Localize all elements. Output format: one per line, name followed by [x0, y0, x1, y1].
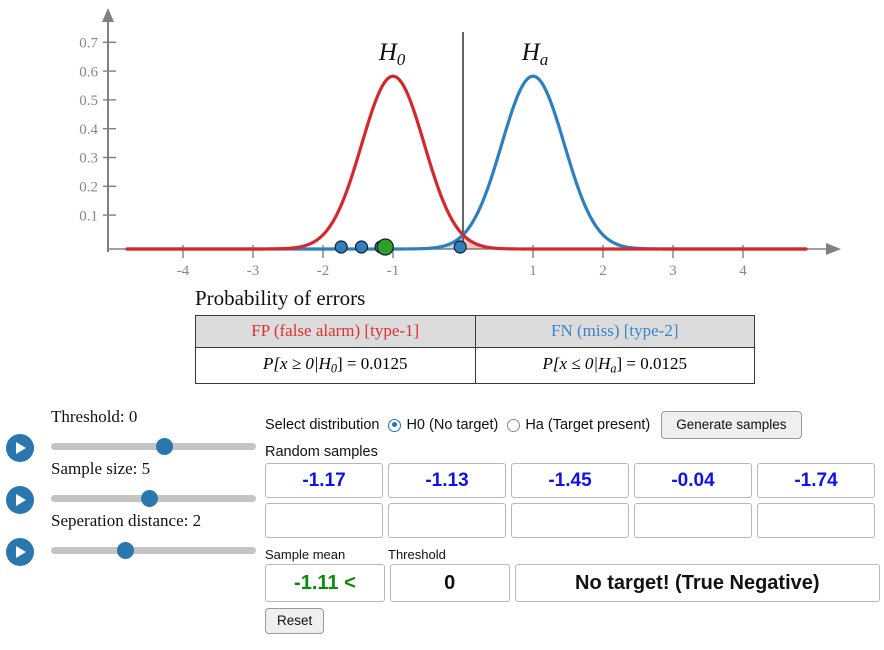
fp-header-text: FP (false alarm) [type-1] — [251, 321, 419, 340]
ha-curve — [127, 76, 806, 249]
radio-dot-ha-icon[interactable] — [507, 419, 520, 432]
fn-value-cell: P[x ≤ 0|Ha] = 0.0125 — [475, 348, 755, 384]
threshold-label: Threshold — [388, 547, 488, 562]
slider-knob-sample-size[interactable] — [141, 490, 158, 507]
result-labels-row: Sample mean Threshold — [265, 547, 880, 562]
y-tick-label: 0.7 — [79, 36, 98, 52]
fp-expr-right: ] = 0.0125 — [337, 354, 408, 373]
fn-header: FN (miss) [type-2] — [475, 316, 755, 348]
x-tick-label: -3 — [247, 263, 260, 279]
slider-knob-threshold[interactable] — [156, 438, 173, 455]
x-tick-label: -1 — [387, 263, 400, 279]
x-tick-label: 3 — [669, 263, 677, 279]
x-tick-label: 2 — [599, 263, 607, 279]
verdict-text[interactable]: No target! (True Negative) — [515, 564, 880, 602]
y-tick-label: 0.1 — [79, 208, 98, 224]
probability-of-errors-section: Probability of errors FP (false alarm) [… — [195, 286, 755, 384]
play-icon-separation-distance[interactable] — [6, 538, 34, 566]
y-tick-label: 0.2 — [79, 180, 98, 196]
result-values-row: -1.11 < 0 No target! (True Negative) — [265, 564, 880, 602]
slider-label-sample-size: Sample size: 5 — [51, 459, 150, 479]
play-icon-sample-size[interactable] — [6, 486, 34, 514]
distribution-selector-row: Select distribution H0 (No target) Ha (T… — [265, 413, 880, 437]
x-tick-label: -4 — [177, 263, 190, 279]
fp-header: FP (false alarm) [type-1] — [196, 316, 476, 348]
random-samples-grid-row2 — [265, 503, 880, 538]
slider-sample-size[interactable] — [51, 495, 256, 502]
table-row: P[x ≥ 0|H0] = 0.0125 P[x ≤ 0|Ha] = 0.012… — [196, 348, 755, 384]
sampling-panel: Select distribution H0 (No target) Ha (T… — [265, 413, 880, 634]
select-distribution-label: Select distribution — [265, 417, 379, 433]
slider-threshold[interactable] — [51, 443, 256, 450]
random-samples-label: Random samples — [265, 444, 880, 460]
slider-label-separation-distance: Seperation distance: 2 — [51, 511, 201, 531]
slider-row-sample-size: Sample size: 5 — [0, 460, 262, 516]
sample-marker[interactable] — [335, 241, 347, 253]
fn-expr-right: ] = 0.0125 — [616, 354, 687, 373]
sample-cell[interactable]: -0.04 — [634, 463, 752, 498]
table-header-row: FP (false alarm) [type-1] FN (miss) [typ… — [196, 316, 755, 348]
generate-samples-button[interactable]: Generate samples — [661, 411, 801, 439]
chart-svg: 0.7 0.6 0.5 0.4 0.3 0.2 0.1 — [0, 0, 884, 282]
sample-cell[interactable]: -1.45 — [511, 463, 629, 498]
radio-h0-label: H0 (No target) — [406, 417, 498, 433]
h0-curve-label: H0 — [378, 39, 406, 69]
x-tick-label: 1 — [529, 263, 537, 279]
sample-mean-label: Sample mean — [265, 547, 388, 562]
fn-header-text: FN (miss) [type-2] — [551, 321, 678, 340]
radio-dot-h0-icon[interactable] — [388, 419, 401, 432]
sample-marker[interactable] — [356, 241, 368, 253]
x-tick-label: 4 — [739, 263, 747, 279]
ha-curve-label: Ha — [521, 39, 549, 69]
slider-panel: Threshold: 0 Sample size: 5 Seperation d… — [0, 408, 262, 578]
sample-cell[interactable] — [388, 503, 506, 538]
fp-expr-left: P[x ≥ 0|H — [263, 354, 331, 373]
slider-separation-distance[interactable] — [51, 547, 256, 554]
y-tick-label: 0.5 — [79, 93, 98, 109]
h0-curve — [127, 76, 806, 249]
sample-marker[interactable] — [454, 241, 466, 253]
slider-row-separation-distance: Seperation distance: 2 — [0, 512, 262, 568]
fn-expr-left: P[x ≤ 0|H — [543, 354, 611, 373]
probability-table: FP (false alarm) [type-1] FN (miss) [typ… — [195, 315, 755, 384]
slider-label-threshold: Threshold: 0 — [51, 407, 137, 427]
radio-ha[interactable]: Ha (Target present) — [507, 417, 650, 433]
sample-cell[interactable] — [757, 503, 875, 538]
sample-mean-marker[interactable] — [377, 239, 393, 255]
y-tick-label: 0.6 — [79, 64, 98, 80]
radio-ha-label: Ha (Target present) — [525, 417, 650, 433]
slider-knob-separation-distance[interactable] — [117, 542, 134, 559]
sample-cell[interactable]: -1.74 — [757, 463, 875, 498]
x-tick-label: -2 — [317, 263, 330, 279]
y-axis: 0.7 0.6 0.5 0.4 0.3 0.2 0.1 — [79, 8, 116, 252]
y-tick-label: 0.3 — [79, 151, 98, 167]
distribution-chart: 0.7 0.6 0.5 0.4 0.3 0.2 0.1 — [0, 0, 884, 282]
play-icon-threshold[interactable] — [6, 434, 34, 462]
sample-cell[interactable] — [511, 503, 629, 538]
fp-value-cell: P[x ≥ 0|H0] = 0.0125 — [196, 348, 476, 384]
radio-h0[interactable]: H0 (No target) — [388, 417, 498, 433]
reset-button[interactable]: Reset — [265, 608, 324, 634]
sample-cell[interactable]: -1.17 — [265, 463, 383, 498]
probability-title: Probability of errors — [195, 286, 755, 311]
sample-cell[interactable] — [634, 503, 752, 538]
threshold-value[interactable]: 0 — [390, 564, 510, 602]
random-samples-grid-row1: -1.17 -1.13 -1.45 -0.04 -1.74 — [265, 463, 880, 498]
y-tick-label: 0.4 — [79, 122, 98, 138]
sample-cell[interactable]: -1.13 — [388, 463, 506, 498]
sample-mean-value[interactable]: -1.11 < — [265, 564, 385, 602]
sample-cell[interactable] — [265, 503, 383, 538]
slider-row-threshold: Threshold: 0 — [0, 408, 262, 464]
